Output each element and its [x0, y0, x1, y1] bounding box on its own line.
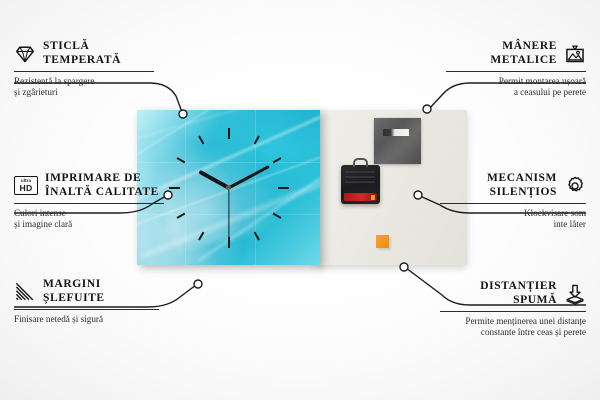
clock-mechanism: [341, 165, 380, 204]
clock-second-hand: [228, 188, 229, 240]
clock-front-glass: [137, 110, 320, 265]
feature-header: MARGINI ȘLEFUITE: [14, 278, 159, 305]
feature-polished-edges[interactable]: MARGINI ȘLEFUITE Finisare netedă și sigu…: [14, 278, 159, 325]
mechanism-hook: [353, 158, 368, 167]
feature-header: DISTANȚIER SPUMĂ: [440, 280, 586, 307]
beveled-edge-icon: [14, 281, 36, 303]
feature-title: DISTANȚIER SPUMĂ: [480, 280, 557, 307]
infographic-stage: STICLĂ TEMPERATĂ Rezistentă la spargere …: [0, 0, 600, 400]
foam-spacer-pad: [376, 235, 389, 248]
feature-description: Permite menținerea unei distanțe constan…: [440, 316, 586, 339]
diamond-icon: [14, 43, 36, 65]
feature-divider: [14, 71, 154, 72]
feature-divider: [440, 311, 586, 312]
hanger-slot: [383, 129, 409, 136]
feature-title: IMPRIMARE DE ÎNALTĂ CALITATE: [45, 172, 159, 199]
clock-face: [137, 110, 320, 265]
feature-divider: [446, 71, 586, 72]
mechanism-detail: [345, 171, 375, 189]
feature-header: ultra HD IMPRIMARE DE ÎNALTĂ CALITATE: [14, 172, 164, 199]
feature-tempered-glass[interactable]: STICLĂ TEMPERATĂ Rezistentă la spargere …: [14, 40, 154, 99]
feature-header: MECANISM SILENȚIOS: [440, 172, 586, 199]
feature-title: MECANISM SILENȚIOS: [487, 172, 557, 199]
feature-header: MÂNERE METALICE: [446, 40, 586, 67]
feature-divider: [14, 309, 159, 310]
picture-frame-icon: [564, 43, 586, 65]
feature-description: Permit montarea ușoară a ceasului pe per…: [446, 76, 586, 99]
feature-title: STICLĂ TEMPERATĂ: [43, 40, 121, 67]
feature-description: Rezistentă la spargere și zgârieturi: [14, 76, 154, 99]
feature-description: Finisare netedă și sigură: [14, 314, 159, 325]
clock-tick: [229, 187, 289, 189]
feature-silent-mechanism[interactable]: MECANISM SILENȚIOS Klockvisare som inte …: [440, 172, 586, 231]
feature-foam-spacer[interactable]: DISTANȚIER SPUMĂ Permite menținerea unei…: [440, 280, 586, 339]
feature-header: STICLĂ TEMPERATĂ: [14, 40, 154, 67]
feature-divider: [14, 203, 164, 204]
feature-description: Culori intense și imagine clară: [14, 208, 164, 231]
feature-divider: [440, 203, 586, 204]
feature-title: MARGINI ȘLEFUITE: [43, 278, 105, 305]
ultra-hd-icon: ultra HD: [14, 176, 38, 195]
product-image: [137, 110, 467, 265]
clock-tick: [228, 128, 230, 188]
ultra-hd-icon-main: HD: [19, 184, 32, 193]
feature-high-quality-print[interactable]: ultra HD IMPRIMARE DE ÎNALTĂ CALITATE Cu…: [14, 172, 164, 231]
clock-center-pin: [226, 185, 231, 190]
feature-title: MÂNERE METALICE: [490, 40, 557, 67]
feature-metal-handles[interactable]: MÂNERE METALICE Permit montarea ușoară a…: [446, 40, 586, 99]
feature-description: Klockvisare som inte låter: [440, 208, 586, 231]
metal-hanger: [374, 118, 421, 164]
gear-icon: [564, 175, 586, 197]
clock-tick: [169, 187, 229, 189]
battery-terminal: [371, 195, 375, 200]
press-down-pad-icon: [564, 283, 586, 305]
battery: [344, 193, 377, 201]
